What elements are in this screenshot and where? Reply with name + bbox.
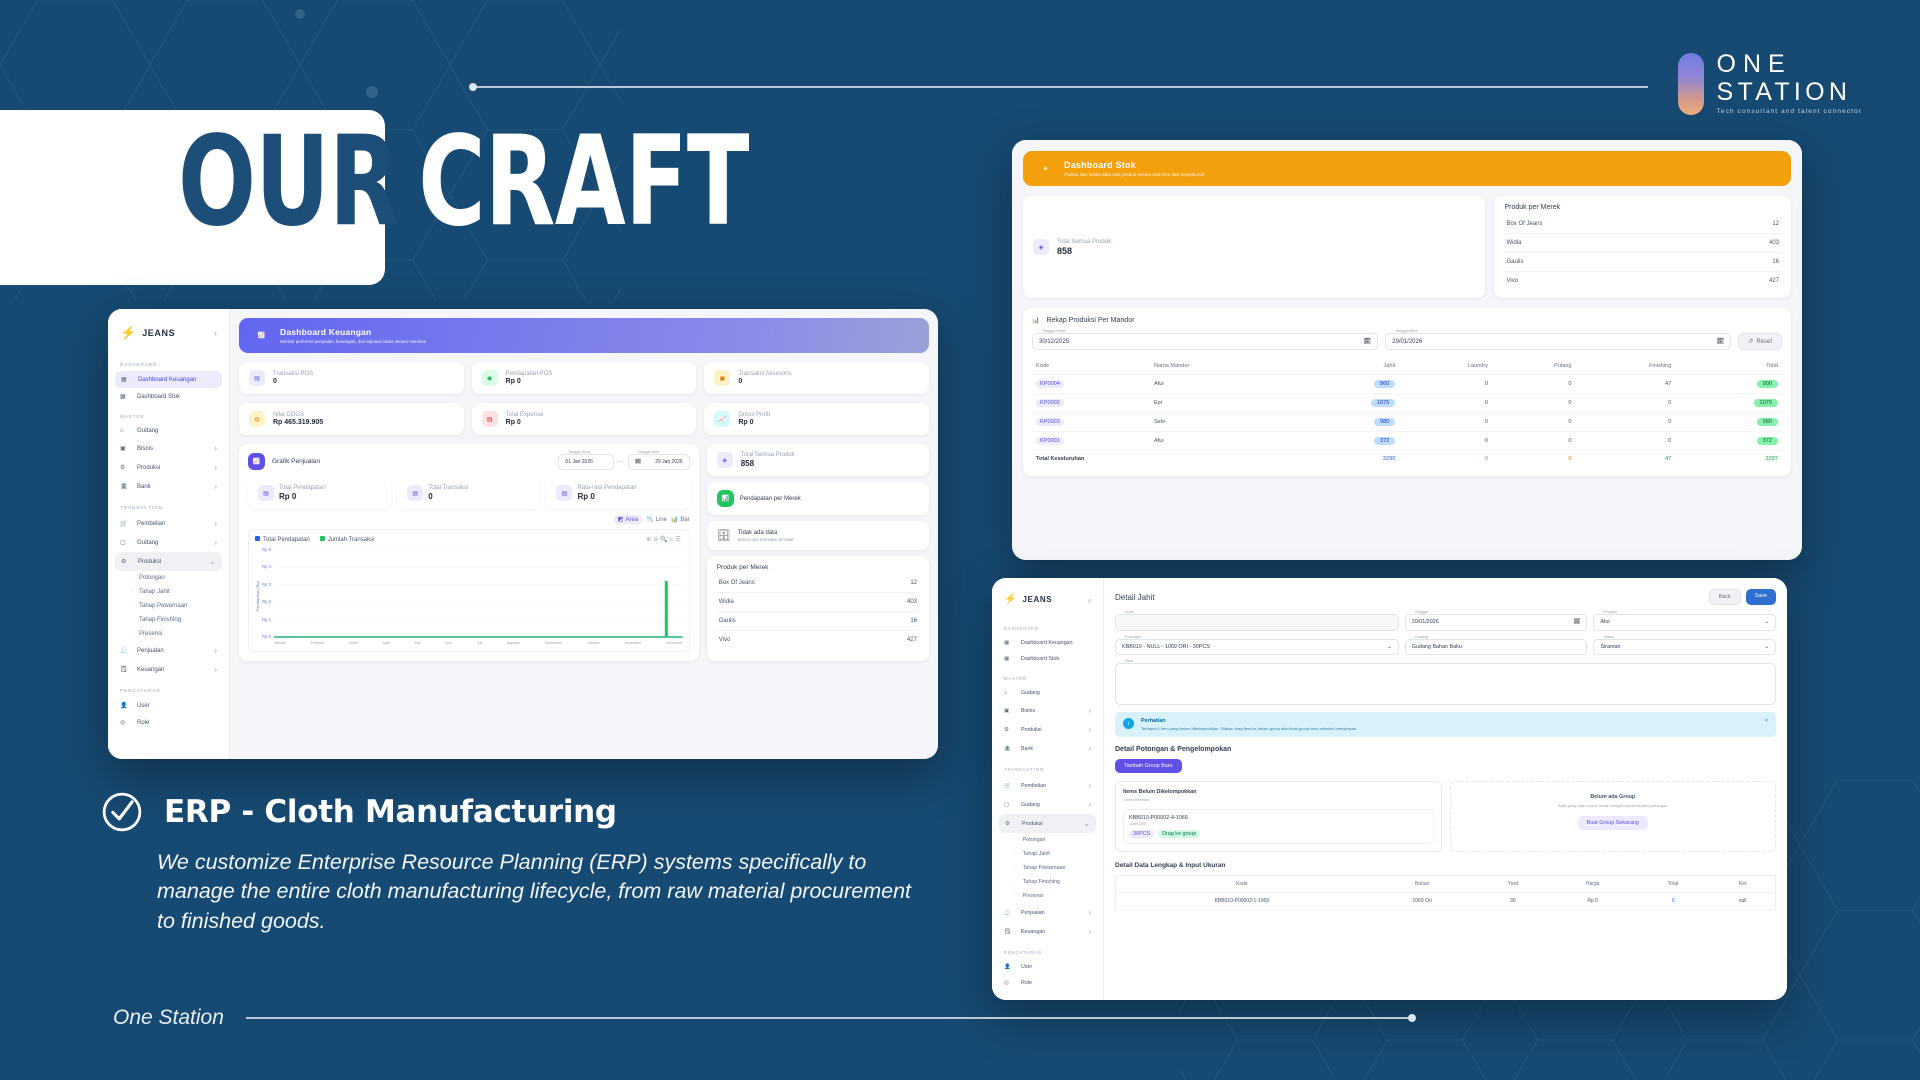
logo-pill-icon [1678, 53, 1704, 115]
hero-word-craft: CRAFT [418, 120, 749, 244]
metric-value: Rp 0 [577, 492, 636, 501]
stat-card-nilai-cogs[interactable]: ◍ Nilai COGS Rp 465.319.905 [239, 403, 464, 435]
col-pulang: Pulang [1492, 358, 1576, 375]
x-tick: Maret [349, 641, 358, 645]
dash-icon: · [1014, 837, 1016, 843]
buat-group-button[interactable]: Buat Group Sekarang [1578, 816, 1648, 830]
finance-banner-title: Dashboard Keuangan [280, 327, 426, 337]
receipt-icon: ▤ [249, 370, 265, 386]
chevron-left-icon[interactable]: ‹ [1088, 595, 1091, 605]
cell-finishing: 0 [1576, 432, 1676, 451]
sidebar-subitem-tahap-finishing[interactable]: · Tahap Finishing [108, 613, 229, 627]
stat-card-total-expense[interactable]: ▤ Total Expense Rp 0 [472, 403, 697, 435]
logo-tagline: Tech consultant and talent connector [1717, 109, 1862, 116]
sidebar-item-gudang-trx[interactable]: ▢ Gudang › [108, 533, 229, 552]
chart-view-line[interactable]: 📉 Line [646, 515, 667, 524]
cell-nama: Afui [1150, 375, 1293, 394]
cube-icon: ◈ [1033, 239, 1049, 255]
sidebar-item-label: Bisnis [137, 446, 153, 452]
ungrouped-title: Items Belum Dikelompokkan [1123, 789, 1434, 795]
sidebar-subitem-label: Presensi [139, 631, 162, 637]
legend-item-total-pendapatan: Total Pendapatan [255, 536, 310, 543]
sidebar-section-label: TRANSACTION [108, 496, 229, 514]
nota-field[interactable]: Nota [1115, 663, 1776, 705]
sidebar-item-label: User [1021, 964, 1032, 970]
brand-qty: 12 [1772, 221, 1779, 227]
sidebar-section-label: DASHBOARD [992, 617, 1103, 635]
app-sidebar[interactable]: ⚡ JEANS ‹ DASHBOARD ▦ Dashboard Keuangan… [108, 309, 230, 759]
total-label: Total Keseluruhan [1032, 451, 1293, 468]
sidebar-item-label: Keuangan [1021, 929, 1045, 935]
potongan-field[interactable]: Potongan KBB010 - NULL - 1069 ORI - 30PC… [1115, 639, 1399, 655]
sidebar-section-label: PENGATURAN [992, 941, 1103, 959]
chevron-right-icon: › [1088, 781, 1091, 790]
sidebar-section-label: MASTER [992, 667, 1103, 685]
gudang-field[interactable]: Gudang Gudang Bahan Baku [1405, 639, 1588, 655]
date-start-field[interactable]: Tanggal Mulai 01 Jan 2026 [558, 454, 614, 470]
sales-chart[interactable]: Total Pendapatan Jumlah Transaksi ⊕⊖🔍⌂☰ … [248, 529, 690, 652]
logo-name-line2: STATION [1717, 80, 1862, 105]
stock-dashboard-mock[interactable]: ◈ Dashboard Stok Pantau dan kelola data … [1012, 140, 1802, 560]
box-icon: ▢ [120, 539, 130, 546]
chevron-right-icon: › [214, 482, 217, 491]
sidebar-subitem-tahap-pewarnaan[interactable]: · Tahap Pewarnaan [108, 599, 229, 613]
chart-legend: Total Pendapatan Jumlah Transaksi [255, 536, 374, 543]
tanggal-label: Tanggal [1412, 610, 1431, 614]
cart-icon: 🛒 [1004, 783, 1014, 789]
gudang-value: Gudang Bahan Baku [1412, 644, 1581, 650]
shield-icon: ◎ [120, 719, 130, 726]
x-tick: Mei [415, 641, 421, 645]
cube-icon: ◈ [717, 452, 733, 468]
cell-laundry: 0 [1399, 432, 1492, 451]
stat-label: Nilai COGS [273, 412, 323, 418]
table-header-row: Kode Nama Mandor Jahit Laundry Pulang Fi… [1032, 358, 1782, 375]
sidebar-item-user[interactable]: 👤 User [992, 959, 1103, 975]
brand-name: Gaulis [719, 618, 736, 624]
x-tick: Februari [311, 641, 324, 645]
alert-title: Perhatian [1141, 718, 1758, 724]
sidebar-item-dashboard-keuangan[interactable]: ▦ Dashboard Keuangan [992, 635, 1103, 651]
stat-value: Rp 0 [738, 419, 770, 426]
stock-banner-title: Dashboard Stok [1064, 160, 1204, 170]
sidebar-item-label: Gudang [1021, 690, 1040, 696]
total-laundry: 0 [1399, 451, 1492, 468]
col-ket: Ket [1710, 876, 1775, 893]
table-total-row: Total Keseluruhan 3290 0 0 47 3337 [1032, 451, 1782, 468]
x-tick: Januari [274, 641, 286, 645]
chevron-down-icon[interactable]: ⌄ [1764, 619, 1769, 625]
chevron-left-icon[interactable]: ‹ [214, 328, 217, 338]
produk-per-merek-card: Produk per Merek Box Of Jeans 12 Widia 4… [707, 556, 929, 661]
col-yard: Yard [1477, 876, 1550, 893]
dash-icon: · [130, 575, 132, 581]
ungrouped-sub: 1 item tersedia [1123, 797, 1434, 802]
col-finishing: Finishing [1576, 358, 1676, 375]
sidebar-item-pembelian[interactable]: 🛒 Pembelian › [108, 514, 229, 533]
table-row[interactable]: KP0003 Selo 980 0 0 0 980 [1032, 413, 1782, 432]
tanggal-value: 20/01/2026 [1412, 619, 1439, 625]
dash-icon: · [1014, 893, 1016, 899]
brand-qty: 427 [907, 637, 917, 643]
footer: One Station [113, 1006, 1413, 1030]
sidebar-subitem-label: Presensi [1023, 893, 1044, 899]
chevron-right-icon: › [1088, 800, 1091, 809]
table-row[interactable]: KP0002 Epi 1075 0 0 0 1075 [1032, 394, 1782, 413]
sidebar-item-dashboard-keuangan[interactable]: ▦ Dashboard Keuangan [115, 371, 222, 388]
sidebar-item-pembelian[interactable]: 🛒 Pembelian › [992, 776, 1103, 795]
sidebar-subitem-presensi[interactable]: · Presensi [108, 627, 229, 641]
avg-icon: ▤ [556, 485, 572, 501]
coin-icon: ◍ [249, 411, 265, 427]
close-icon[interactable]: × [1765, 718, 1768, 731]
sidebar-brand-label: JEANS [142, 328, 175, 338]
cell-pulang: 0 [1492, 413, 1576, 432]
potongan-label: Potongan [1122, 635, 1144, 639]
sidebar-item-bisnis[interactable]: ▣ Bisnis › [992, 701, 1103, 720]
chart-view-bar[interactable]: 📊 Bar [671, 515, 690, 524]
penjahit-value: Afui [1600, 619, 1609, 625]
stat-card-transaksi-aksesoris[interactable]: ▣ Transaksi Aksesoris 0 [704, 362, 929, 394]
sidebar-item-label: Bisnis [1021, 708, 1035, 714]
brand-qty: 403 [907, 599, 917, 605]
y-tick: Rp 1 [262, 617, 271, 622]
box-icon: ▢ [1004, 802, 1014, 808]
table-row[interactable]: KP0004 Afui 860 0 0 47 900 [1032, 375, 1782, 394]
brand-name: Vivo [719, 637, 731, 643]
pendapatan-merek-card: 📊 Pendapatan per Merek [707, 482, 929, 515]
back-button[interactable]: Back [1709, 589, 1741, 605]
sidebar-item-produksi-trx[interactable]: ⚙ Produksi ⌄ [115, 552, 222, 571]
rekap-date-end-label: Tanggal Akhir [1392, 329, 1421, 333]
check-circle-icon [100, 790, 144, 834]
sidebar-item-penjualan[interactable]: 🧾 Penjualan › [992, 903, 1103, 922]
stat-value: Rp 0 [506, 419, 544, 426]
sidebar-item-keuangan[interactable]: 🗒 Keuangan › [992, 922, 1103, 941]
sidebar-item-dashboard-stok[interactable]: ▦ Dashboard Stok [992, 651, 1103, 667]
brand-row: Box Of Jeans 12 [717, 574, 919, 593]
stock-banner-subtitle: Pantau dan kelola data stok produk secar… [1064, 172, 1204, 177]
metric-total-transaksi: ▤ Total Transaksi 0 [397, 477, 540, 509]
sidebar-item-label: Produksi [1021, 727, 1042, 733]
cell-jahit: 860 [1374, 380, 1395, 388]
sidebar-item-bisnis[interactable]: ▣ Bisnis › [108, 439, 229, 458]
chevron-right-icon: › [1088, 927, 1091, 936]
legend-swatch [320, 536, 325, 541]
cell-nama: Selo [1150, 413, 1293, 432]
sidebar-subitem-tahap-pewarnaan[interactable]: · Tahap Pewarnaan [992, 861, 1103, 875]
total-finishing: 47 [1576, 451, 1676, 468]
sidebar-subitem-label: Tahap Jahit [139, 589, 170, 595]
sidebar-item-bank[interactable]: 🏦 Bank › [992, 739, 1103, 758]
tambah-group-button[interactable]: Tambah Group Baru [1115, 759, 1182, 773]
sidebar-item-produksi[interactable]: ⚙ Produksi › [992, 720, 1103, 739]
y-tick: Rp 2 [262, 599, 271, 604]
area-icon: ◩ [618, 516, 624, 523]
metric-label: Total Pendapatan [279, 485, 326, 491]
trend-icon: 📈 [248, 453, 265, 470]
cell-yard: 30 [1477, 893, 1550, 910]
bar-icon: 📊 [671, 516, 678, 523]
rekap-date-end[interactable]: Tanggal Akhir 29/01/2026 🗓 [1385, 333, 1731, 350]
sidebar-subitem-presensi[interactable]: · Presensi [992, 889, 1103, 903]
kode-label: Kode [1122, 610, 1137, 614]
sidebar-item-label: Gudang [137, 428, 158, 434]
footer-divider [246, 1017, 1413, 1019]
brand-qty: 16 [1772, 259, 1779, 265]
one-station-logo: ONE STATION Tech consultant and talent c… [1678, 52, 1862, 116]
cell-nama: Afui [1150, 432, 1293, 451]
save-button[interactable]: Save [1746, 589, 1776, 605]
sidebar-subitem-tahap-jahit[interactable]: · Tahap Jahit [108, 585, 229, 599]
x-tick: Desember [666, 641, 683, 645]
stat-card-transaksi-pos[interactable]: ▤ Transaksi POS 0 [239, 362, 464, 394]
cell-finishing: 47 [1576, 375, 1676, 394]
sidebar-subitem-label: Tahap Pewarnaan [139, 603, 187, 609]
reset-label: Reset [1756, 339, 1772, 345]
detail-jahit-mock[interactable]: ⚡ JEANS ‹ DASHBOARD ▦ Dashboard Keuangan… [992, 578, 1787, 1000]
kode-chip: KP0002 [1036, 399, 1064, 407]
table-row: Vivo 427 [1504, 272, 1781, 290]
table-row: Box Of Jeans 12 [1504, 215, 1781, 234]
col-bahan: Bahan [1368, 876, 1477, 893]
item-sub: 1069 ORI [1129, 821, 1428, 826]
item-chip-drag[interactable]: Drag ke group [1158, 830, 1200, 838]
alert-text: Terdapat 1 item yang belum dikelompokkan… [1141, 726, 1758, 731]
chevron-right-icon: › [214, 665, 217, 674]
col-harga: Harga [1549, 876, 1636, 893]
doc-icon: ▤ [482, 411, 498, 427]
chart-view-label: Line [656, 517, 667, 523]
bank-icon: 🏦 [120, 483, 130, 490]
sidebar-subitem-potongan[interactable]: · Potongan [108, 571, 229, 585]
trend-icon: 📈 [714, 411, 730, 427]
brand-name: Box Of Jeans [719, 580, 755, 586]
chevron-right-icon: › [214, 463, 217, 472]
sidebar-item-role[interactable]: ◎ Role [108, 714, 229, 731]
sidebar-subitem-tahap-finishing[interactable]: · Tahap Finishing [992, 875, 1103, 889]
col-jahit: Jahit [1293, 358, 1400, 375]
x-tick: Agustus [507, 641, 520, 645]
dash-icon: · [1014, 879, 1016, 885]
cell-bahan: 1069 Ori [1368, 893, 1477, 910]
rekap-title: Rekap Produksi Per Mandor [1046, 317, 1134, 324]
y-tick: Rp 0 [262, 634, 271, 639]
table-row: Widia 403 [1504, 234, 1781, 253]
grid-icon: ▦ [121, 376, 131, 383]
date-text: 29/01/2026 [1392, 339, 1422, 345]
shield-icon: ◎ [1004, 980, 1014, 986]
caption-block: ERP - Cloth Manufacturing We customize E… [100, 790, 930, 936]
legend-label: Jumlah Transaksi [328, 537, 375, 543]
reset-button[interactable]: ↺ Reset [1738, 333, 1782, 350]
sidebar-item-gudang[interactable]: ⌂ Gudang [108, 423, 229, 439]
stat-value: 0 [738, 378, 791, 385]
sidebar-item-label: Dashboard Stok [137, 394, 180, 400]
chart-plot [274, 547, 683, 639]
cell-jahit: 980 [1374, 418, 1395, 426]
sidebar-item-penjualan[interactable]: 🧾 Penjualan › [108, 641, 229, 660]
sidebar-item-label: Produksi [138, 559, 161, 565]
col-laundry: Laundry [1399, 358, 1492, 375]
stock-total-label: Total Semua Produk [1057, 239, 1111, 245]
finance-banner-subtitle: Monitor performa penjualan, keuangan, da… [280, 339, 426, 344]
sidebar-item-gudang[interactable]: ⌂ Gudang [992, 685, 1103, 701]
app-sidebar[interactable]: ⚡ JEANS ‹ DASHBOARD ▦ Dashboard Keuangan… [992, 578, 1104, 1000]
total-produk-value: 858 [741, 459, 795, 468]
table-row[interactable]: KP0001 Afui 372 0 0 0 372 [1032, 432, 1782, 451]
bag-icon: ▣ [714, 370, 730, 386]
gudang-label: Gudang [1412, 635, 1432, 639]
calendar-icon[interactable]: 🗓 [1364, 338, 1372, 345]
tanggal-field[interactable]: Tanggal 20/01/2026 🗓 [1405, 614, 1588, 631]
kode-chip: KP0004 [1036, 380, 1064, 388]
home-icon: ⌂ [1004, 690, 1014, 696]
stat-value: Rp 465.319.905 [273, 419, 323, 426]
bar-icon: 📊 [1032, 317, 1039, 324]
no-group-title: Belum ada Group [1458, 794, 1769, 800]
chart-ylabel: Pendapatan (Rp) [255, 581, 260, 611]
legend-label: Total Pendapatan [263, 537, 310, 543]
calendar-icon[interactable]: 🗓 [1574, 619, 1581, 625]
brand-row: Gaulis 16 [717, 612, 919, 631]
sidebar-subitem-label: Tahap Jahit [1023, 851, 1050, 857]
ungrouped-item[interactable]: KBB010-P00002-4-1069 1069 ORI 30PCS Drag… [1123, 809, 1434, 844]
stat-label: Total Expense [506, 412, 544, 418]
user-icon: 👤 [1004, 964, 1014, 970]
empty-title: Tidak ada data [738, 530, 794, 536]
sidebar-item-label: Gudang [1021, 802, 1040, 808]
hero-title: OUR CRAFT [178, 120, 749, 244]
total-produk-label: Total Semua Produk [741, 452, 795, 458]
user-icon: 👤 [120, 702, 130, 709]
pendapatan-merek-title: Pendapatan per Merek [740, 496, 801, 502]
stat-label: Pendapatan POS [506, 371, 553, 377]
sidebar-item-label: Pembelian [137, 521, 165, 527]
metric-label: Rata-rata Pendapatan [577, 485, 636, 491]
x-tick: November [625, 641, 642, 645]
bolt-icon: ⚡ [120, 325, 136, 341]
total-pulang: 0 [1492, 451, 1576, 468]
sidebar-item-keuangan[interactable]: 🗒 Keuangan › [108, 660, 229, 679]
sidebar-item-label: Penjualan [137, 648, 164, 654]
dash-icon: · [130, 603, 132, 609]
sidebar-item-label: Produksi [1022, 821, 1043, 827]
finance-content: 📈 Dashboard Keuangan Monitor performa pe… [230, 309, 938, 759]
brand-name: Gaulis [1506, 259, 1523, 265]
finance-dashboard-mock[interactable]: ⚡ JEANS ‹ DASHBOARD ▦ Dashboard Keuangan… [108, 309, 938, 759]
sidebar-brand: ⚡ JEANS ‹ [992, 588, 1103, 617]
stat-card-gross-profit[interactable]: 📈 Gross Profit Rp 0 [704, 403, 929, 435]
stat-label: Transaksi Aksesoris [738, 371, 791, 377]
chevron-down-icon: ⌄ [209, 557, 216, 566]
chevron-right-icon: › [214, 519, 217, 528]
sidebar-brand: ⚡ JEANS ‹ [108, 319, 229, 353]
cell-pulang: 0 [1492, 375, 1576, 394]
info-icon: i [1123, 718, 1134, 729]
bolt-icon: ⚡ [1004, 594, 1016, 605]
potongan-value: KBB010 - NULL - 1069 ORI - 30PCS [1122, 644, 1210, 650]
header-divider [472, 86, 1648, 88]
rekap-produksi-panel: 📊 Rekap Produksi Per Mandor Tanggal Mula… [1023, 308, 1791, 476]
chevron-down-icon[interactable]: ⌄ [1764, 644, 1769, 650]
stat-card-pendapatan-pos[interactable]: ◉ Pendapatan POS Rp 0 [472, 362, 697, 394]
nota-label: Nota [1122, 659, 1136, 663]
chart-view-area[interactable]: ◩ Area [614, 515, 642, 524]
sidebar-section-label: PENGATURAN [108, 679, 229, 697]
total-jahit: 3290 [1293, 451, 1400, 468]
sidebar-item-gudang-trx[interactable]: ▢ Gudang › [992, 795, 1103, 814]
date-end-field[interactable]: Tanggal Akhir 🗓 29 Jan 2026 [628, 454, 690, 470]
sidebar-subitem-label: Potongan [1023, 837, 1046, 843]
y-tick: Rp 4 [262, 564, 271, 569]
table-row: Gaulis 16 [1504, 253, 1781, 272]
chart-view-label: Bar [680, 517, 689, 523]
date-start-value: 01 Jan 2026 [565, 459, 607, 465]
rekap-date-start-value: 30/12/2025 🗓 [1039, 338, 1371, 345]
note-icon: 🗒 [1004, 929, 1014, 935]
sidebar-item-produksi[interactable]: ⚙ Produksi › [108, 458, 229, 477]
brand-qty: 427 [1769, 278, 1779, 284]
brand-name: Vivo [1506, 278, 1518, 284]
money-icon: ◉ [482, 370, 498, 386]
brand-name: Widia [719, 599, 734, 605]
grafik-title: Grafik Penjualan [272, 458, 320, 465]
stat-value: 0 [273, 378, 313, 385]
kode-field[interactable]: Kode [1115, 614, 1399, 631]
table-row[interactable]: KBB010-P00002-1-1069 1069 Ori 30 Rp 0 0 … [1116, 893, 1776, 910]
sale-icon: 🧾 [1004, 910, 1014, 916]
box-icon: ◈ [1037, 160, 1054, 177]
perhatian-alert: i Perhatian Terdapat 1 item yang belum d… [1115, 712, 1776, 737]
bag-icon: ▣ [120, 445, 130, 452]
chevron-down-icon[interactable]: ⌄ [1387, 644, 1392, 650]
total-total: 3337 [1675, 451, 1782, 468]
penjahit-label: Penjahit [1600, 610, 1620, 614]
gear-icon: ⚙ [1005, 821, 1015, 827]
dash-icon: · [130, 617, 132, 623]
cell-jahit: 372 [1374, 437, 1395, 445]
sidebar-item-dashboard-stok[interactable]: ▦ Dashboard Stok [108, 388, 229, 405]
sidebar-subitem-tahap-jahit[interactable]: · Tahap Jahit [992, 847, 1103, 861]
sidebar-subitem-potongan[interactable]: · Potongan [992, 833, 1103, 847]
status-field[interactable]: Status Siraman ⌄ [1593, 639, 1776, 655]
bank-icon: 🏦 [1004, 746, 1014, 752]
sidebar-item-bank[interactable]: 🏦 Bank › [108, 477, 229, 496]
sidebar-item-label: Produksi [137, 465, 160, 471]
refresh-icon: ↺ [1748, 338, 1753, 345]
rekap-date-start[interactable]: Tanggal Mulai 30/12/2025 🗓 [1032, 333, 1378, 350]
sidebar-item-label: Dashboard Keuangan [138, 377, 196, 383]
col-kode: Kode [1116, 876, 1368, 893]
sidebar-item-user[interactable]: 👤 User [108, 697, 229, 714]
calendar-icon[interactable]: 🗓 [1717, 338, 1725, 345]
stat-label: Transaksi POS [273, 371, 313, 377]
table-header-row: Kode Bahan Yard Harga Total Ket [1116, 876, 1776, 893]
penjahit-field[interactable]: Penjahit Afui ⌄ [1593, 614, 1776, 631]
page-title: ERP - Cloth Manufacturing [164, 794, 617, 830]
kode-chip: KP0003 [1036, 418, 1064, 426]
sidebar-item-produksi-trx[interactable]: ⚙ Produksi ⌄ [999, 814, 1096, 833]
y-tick: Rp 5 [262, 547, 271, 552]
sidebar-item-label: User [137, 703, 150, 709]
chevron-right-icon: › [214, 444, 217, 453]
stat-label: Gross Profit [738, 412, 770, 418]
chart-toolbar[interactable]: ⊕⊖🔍⌂☰ [646, 536, 683, 543]
brand-qty: 16 [910, 618, 917, 624]
sidebar-item-role[interactable]: ◎ Role [992, 975, 1103, 991]
x-tick: April [383, 641, 390, 645]
